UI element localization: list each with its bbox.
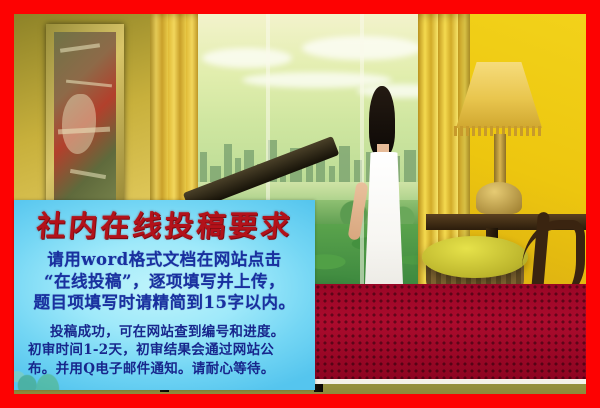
notice-sub-line-2: 初审时间1-2天，初审结果会通过网站公 xyxy=(28,341,315,360)
artwork-stroke xyxy=(66,80,112,88)
artwork-stroke xyxy=(70,169,106,179)
lamp-base xyxy=(476,182,522,214)
notice-main-line-2: “在线投稿”，逐项填写并上传， xyxy=(14,271,315,293)
cloud xyxy=(202,48,292,68)
notice-title: 社内在线投稿要求 xyxy=(14,206,315,246)
yellow-stool xyxy=(422,236,528,278)
notice-sub-line-3: 布。并用Q电子邮件通知。请耐心等待。 xyxy=(28,360,315,379)
notice-main-paragraph: 请用word格式文档在网站点击 “在线投稿”，逐项填写并上传， 题目项填写时请精… xyxy=(14,249,315,314)
artwork-stroke xyxy=(60,43,100,53)
notice-panel: 社内在线投稿要求 请用word格式文档在网站点击 “在线投稿”，逐项填写并上传，… xyxy=(14,200,315,390)
notice-main-line-1: 请用word格式文档在网站点击 xyxy=(14,249,315,271)
notice-content: 社内在线投稿要求 请用word格式文档在网站点击 “在线投稿”，逐项填写并上传，… xyxy=(14,200,315,378)
poster-frame: 社内在线投稿要求 请用word格式文档在网站点击 “在线投稿”，逐项填写并上传，… xyxy=(0,0,600,408)
artwork-shape xyxy=(62,94,96,154)
artwork-canvas xyxy=(54,32,116,226)
notice-main-line-3: 题目项填写时请精简到15字以内。 xyxy=(14,292,315,314)
notice-sub-line-1: 投稿成功，可在网站查到编号和进度。 xyxy=(28,323,315,342)
notice-sub-paragraph: 投稿成功，可在网站查到编号和进度。 初审时间1-2天，初审结果会通过网站公 布。… xyxy=(14,323,315,379)
lamp-neck xyxy=(494,134,506,186)
